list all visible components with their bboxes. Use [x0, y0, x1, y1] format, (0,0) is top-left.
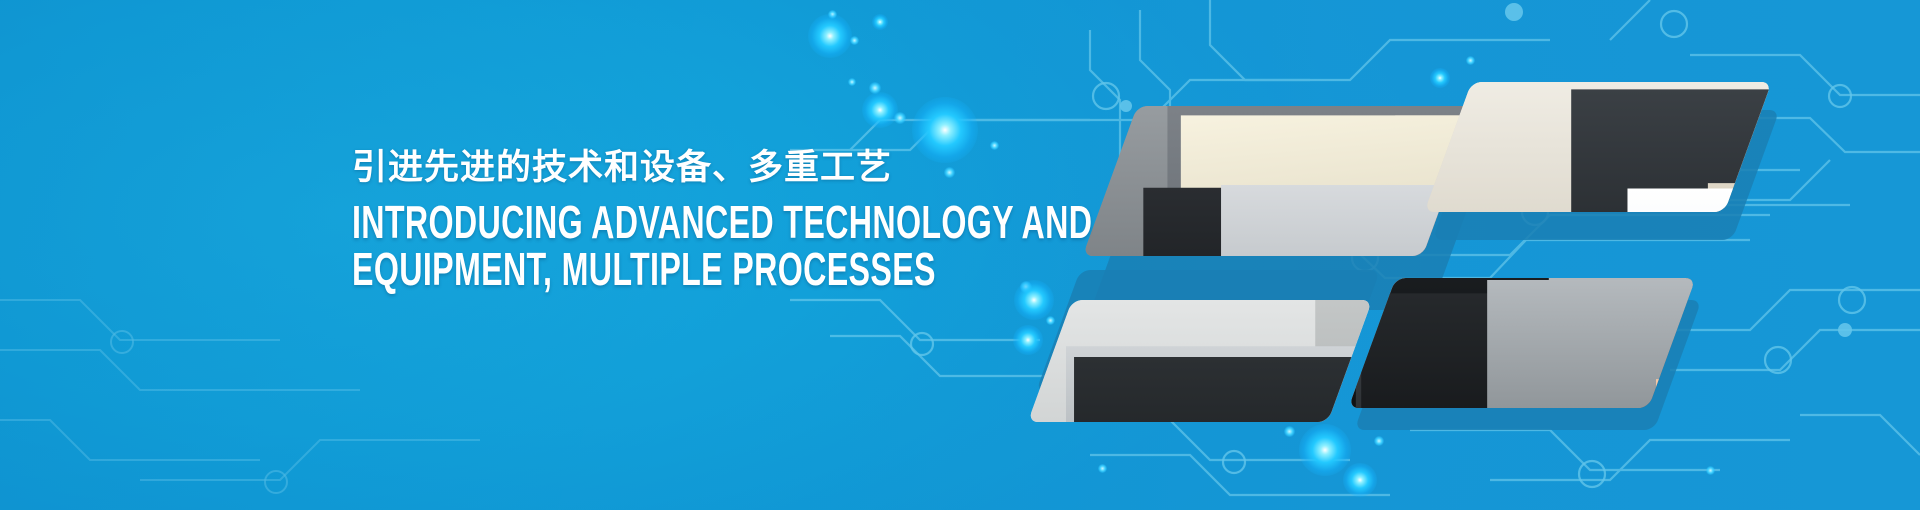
headline-block: 引进先进的技术和设备、多重工艺 INTRODUCING ADVANCED TEC… [352, 150, 1410, 293]
hero-banner: 引进先进的技术和设备、多重工艺 INTRODUCING ADVANCED TEC… [0, 0, 1920, 510]
headline-english-line-1: INTRODUCING ADVANCED TECHNOLOGY AND [352, 199, 1092, 246]
headline-chinese: 引进先进的技术和设备、多重工艺 [352, 150, 1410, 185]
photo-assembly-line[interactable] [1028, 300, 1372, 422]
photo-office[interactable] [1424, 82, 1771, 212]
photo-smt-operation[interactable] [1348, 278, 1695, 408]
photo-office-image [1424, 82, 1771, 212]
photo-assembly-line-image [1028, 300, 1372, 422]
headline-english-line-2: EQUIPMENT, MULTIPLE PROCESSES [352, 246, 1092, 293]
headline-english: INTRODUCING ADVANCED TECHNOLOGY AND EQUI… [352, 199, 1410, 293]
photo-smt-operation-image [1348, 278, 1695, 408]
